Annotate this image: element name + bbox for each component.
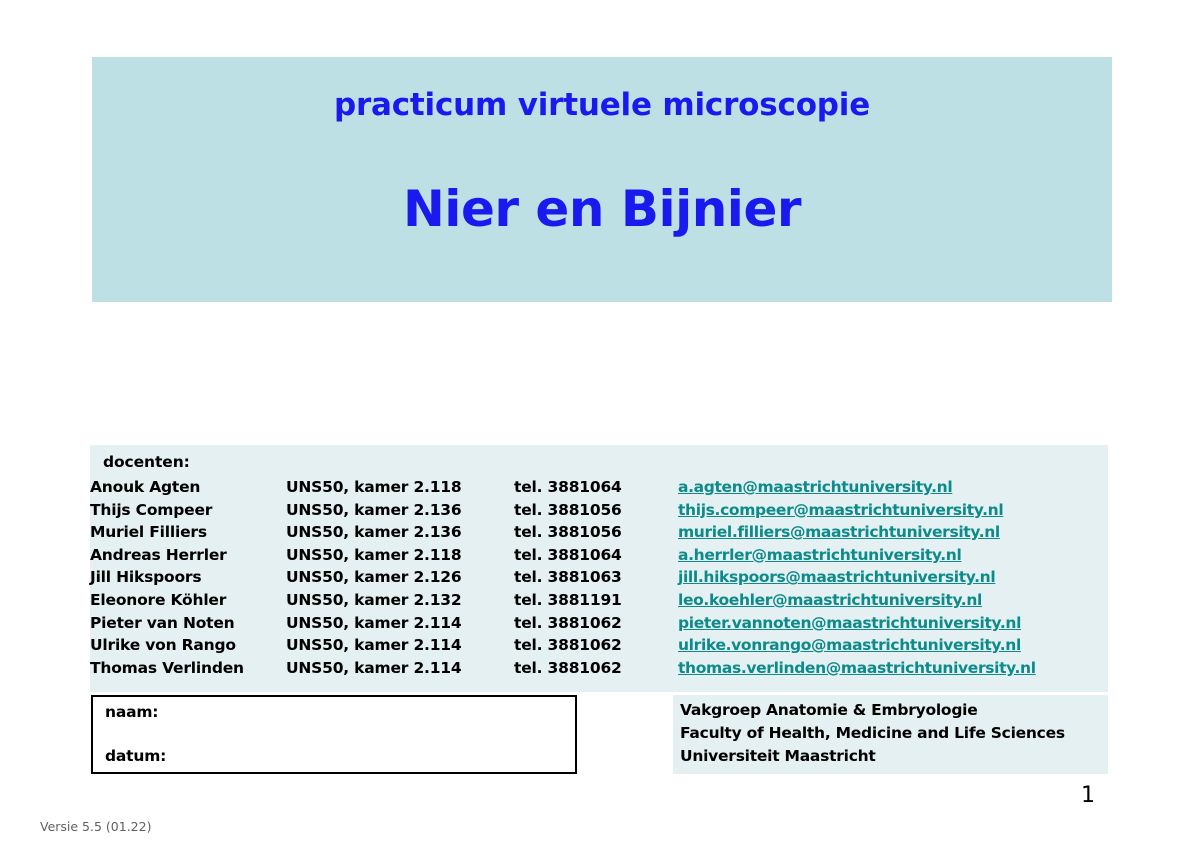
teacher-email-cell: thomas.verlinden@maastrichtuniversity.nl (678, 657, 1036, 680)
teacher-tel: tel. 3881064 (514, 476, 678, 499)
teacher-tel: tel. 3881056 (514, 499, 678, 522)
teacher-name: Muriel Filliers (90, 521, 286, 544)
teacher-email-link[interactable]: thijs.compeer@maastrichtuniversity.nl (678, 501, 1003, 519)
teacher-room: UNS50, kamer 2.114 (286, 657, 514, 680)
version-stamp: Versie 5.5 (01.22) (40, 819, 151, 834)
teacher-tel: tel. 3881191 (514, 589, 678, 612)
table-row: Ulrike von Rango UNS50, kamer 2.114 tel.… (90, 634, 1036, 657)
slide-main-title: Nier en Bijnier (92, 180, 1112, 238)
department-line: Vakgroep Anatomie & Embryologie (680, 701, 978, 719)
department-panel: Vakgroep Anatomie & Embryologie Faculty … (673, 695, 1108, 774)
teacher-tel: tel. 3881064 (514, 544, 678, 567)
student-info-box[interactable]: naam: datum: (91, 695, 577, 774)
teacher-room: UNS50, kamer 2.114 (286, 612, 514, 635)
teacher-room: UNS50, kamer 2.136 (286, 499, 514, 522)
teachers-label: docenten: (103, 453, 190, 471)
date-field-label: datum: (105, 747, 166, 765)
teacher-email-cell: ulrike.vonrango@maastrichtuniversity.nl (678, 634, 1036, 657)
teacher-room: UNS50, kamer 2.114 (286, 634, 514, 657)
teacher-tel: tel. 3881062 (514, 634, 678, 657)
teacher-tel: tel. 3881063 (514, 566, 678, 589)
teacher-tel: tel. 3881062 (514, 657, 678, 680)
teacher-room: UNS50, kamer 2.118 (286, 476, 514, 499)
table-row: Anouk Agten UNS50, kamer 2.118 tel. 3881… (90, 476, 1036, 499)
table-row: Jill Hikspoors UNS50, kamer 2.126 tel. 3… (90, 566, 1036, 589)
teacher-email-cell: muriel.filliers@maastrichtuniversity.nl (678, 521, 1036, 544)
table-row: Pieter van Noten UNS50, kamer 2.114 tel.… (90, 612, 1036, 635)
teacher-email-link[interactable]: a.herrler@maastrichtuniversity.nl (678, 546, 961, 564)
teacher-email-link[interactable]: leo.koehler@maastrichtuniversity.nl (678, 591, 982, 609)
teacher-name: Ulrike von Rango (90, 634, 286, 657)
teacher-room: UNS50, kamer 2.132 (286, 589, 514, 612)
teacher-email-cell: a.agten@maastrichtuniversity.nl (678, 476, 1036, 499)
page-number: 1 (1081, 783, 1095, 808)
teacher-name: Jill Hikspoors (90, 566, 286, 589)
teacher-name: Eleonore Köhler (90, 589, 286, 612)
teacher-tel: tel. 3881056 (514, 521, 678, 544)
teacher-email-link[interactable]: a.agten@maastrichtuniversity.nl (678, 478, 952, 496)
teacher-room: UNS50, kamer 2.118 (286, 544, 514, 567)
teacher-email-link[interactable]: pieter.vannoten@maastrichtuniversity.nl (678, 614, 1021, 632)
table-row: Eleonore Köhler UNS50, kamer 2.132 tel. … (90, 589, 1036, 612)
table-row: Andreas Herrler UNS50, kamer 2.118 tel. … (90, 544, 1036, 567)
teacher-email-link[interactable]: muriel.filliers@maastrichtuniversity.nl (678, 523, 1000, 541)
teacher-name: Thijs Compeer (90, 499, 286, 522)
teacher-email-cell: thijs.compeer@maastrichtuniversity.nl (678, 499, 1036, 522)
teacher-email-link[interactable]: jill.hikspoors@maastrichtuniversity.nl (678, 568, 995, 586)
teacher-email-cell: leo.koehler@maastrichtuniversity.nl (678, 589, 1036, 612)
teacher-email-cell: pieter.vannoten@maastrichtuniversity.nl (678, 612, 1036, 635)
department-line: Faculty of Health, Medicine and Life Sci… (680, 724, 1065, 742)
teacher-email-cell: a.herrler@maastrichtuniversity.nl (678, 544, 1036, 567)
teacher-name: Anouk Agten (90, 476, 286, 499)
table-row: Thomas Verlinden UNS50, kamer 2.114 tel.… (90, 657, 1036, 680)
teacher-room: UNS50, kamer 2.136 (286, 521, 514, 544)
teacher-name: Pieter van Noten (90, 612, 286, 635)
teacher-name: Thomas Verlinden (90, 657, 286, 680)
teacher-email-cell: jill.hikspoors@maastrichtuniversity.nl (678, 566, 1036, 589)
table-row: Thijs Compeer UNS50, kamer 2.136 tel. 38… (90, 499, 1036, 522)
slide-subtitle: practicum virtuele microscopie (92, 87, 1112, 123)
title-banner: practicum virtuele microscopie Nier en B… (92, 57, 1112, 302)
name-field-label: naam: (105, 703, 158, 721)
department-line: Universiteit Maastricht (680, 747, 876, 765)
teacher-email-link[interactable]: ulrike.vonrango@maastrichtuniversity.nl (678, 636, 1021, 654)
teachers-table: Anouk Agten UNS50, kamer 2.118 tel. 3881… (90, 476, 1036, 679)
teachers-panel: docenten: Anouk Agten UNS50, kamer 2.118… (90, 445, 1108, 692)
teacher-name: Andreas Herrler (90, 544, 286, 567)
teachers-table-body: Anouk Agten UNS50, kamer 2.118 tel. 3881… (90, 476, 1036, 679)
teacher-tel: tel. 3881062 (514, 612, 678, 635)
table-row: Muriel Filliers UNS50, kamer 2.136 tel. … (90, 521, 1036, 544)
teacher-email-link[interactable]: thomas.verlinden@maastrichtuniversity.nl (678, 659, 1036, 677)
teacher-room: UNS50, kamer 2.126 (286, 566, 514, 589)
